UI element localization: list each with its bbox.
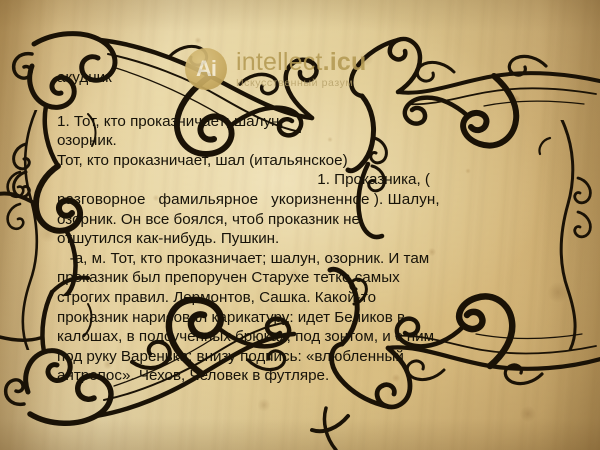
headword: акудник: [57, 68, 542, 88]
definition-line: 1. Проказника, (: [57, 170, 542, 190]
parchment-page: Ai intellect.icu Искусственный разум аку…: [0, 0, 600, 450]
definition-line: -а, м. Тот, кто проказничает; шалун, озо…: [57, 249, 542, 269]
definition-line: озорник. Он все боялся, чтоб проказник н…: [57, 210, 542, 230]
definition-line: калошах, в подсученных брюках, под зонто…: [57, 327, 542, 347]
definition-line: 1. Тот, кто проказничает; шалун,: [57, 112, 542, 132]
definition-line: антропос». Чехов, Человек в футляре.: [57, 366, 542, 386]
definition-line: проказник нарисовал карикатуру: идет Бел…: [57, 308, 542, 328]
definition-line: Тот, кто проказничает, шал (итальянское): [57, 151, 542, 171]
definition-line: под руку Варенька; внизу подпись: «влюбл…: [57, 347, 542, 367]
definition-line: проказник был препоручен Старухе тетке с…: [57, 268, 542, 288]
definition-block-2: 1. Проказника, ( разговорное фамильярное…: [57, 170, 542, 248]
dictionary-article: акудник 1. Тот, кто проказничает; шалун,…: [57, 68, 542, 386]
definition-block-3: -а, м. Тот, кто проказничает; шалун, озо…: [57, 249, 542, 386]
definition-line: строгих правил. Лермонтов, Сашка. Какой-…: [57, 288, 542, 308]
definition-line: разговорное фамильярное укоризненное ). …: [57, 190, 542, 210]
definition-line: озорник.: [57, 131, 542, 151]
definition-line: отшутился как-нибудь. Пушкин.: [57, 229, 542, 249]
definition-block-1: 1. Тот, кто проказничает; шалун, озорник…: [57, 112, 542, 171]
